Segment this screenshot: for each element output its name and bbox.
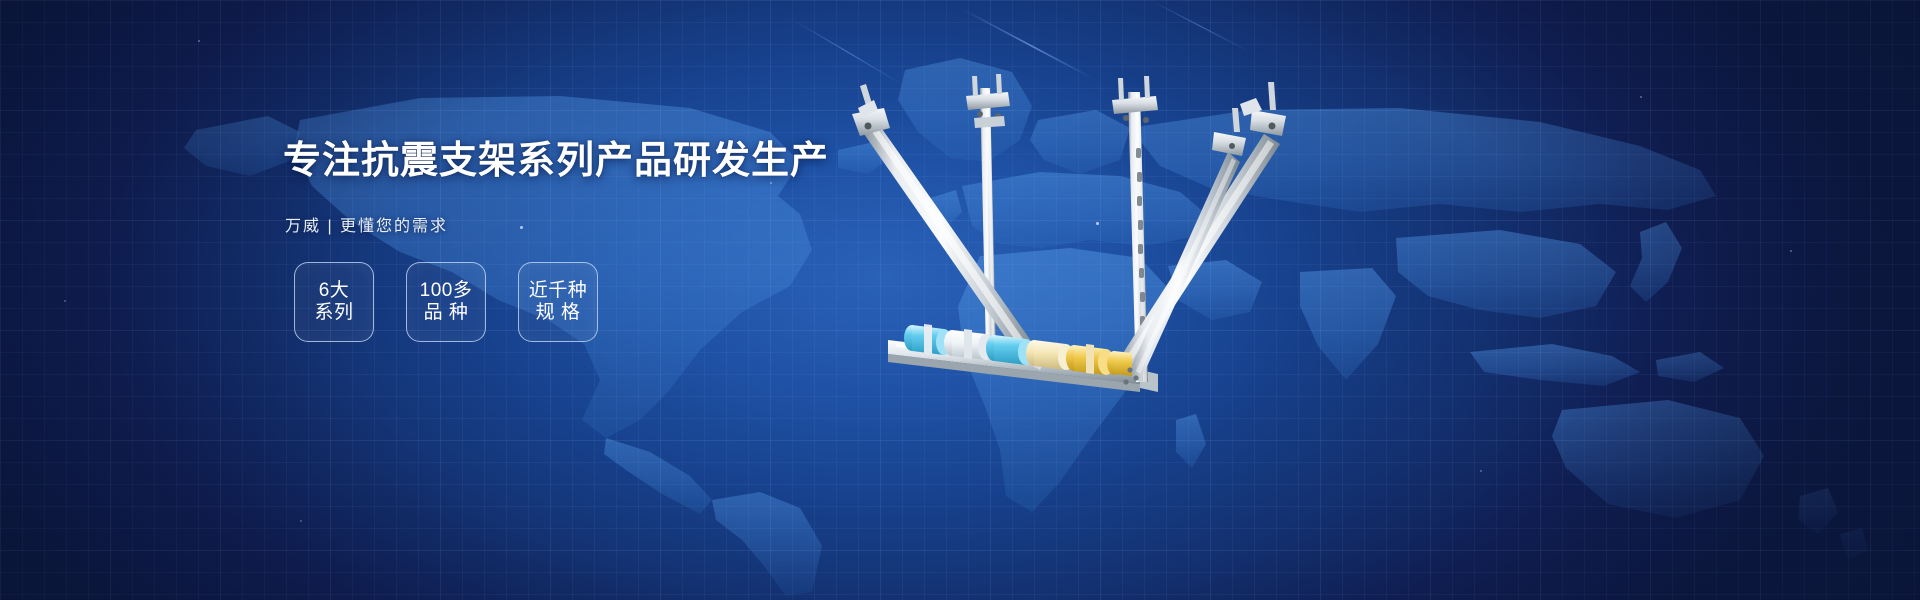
diagonal-brace-left — [852, 84, 1048, 370]
badge-list: 6大 系列 100多 品 种 近千种 规 格 — [294, 262, 598, 342]
badge-line1: 近千种 — [529, 280, 588, 302]
hero-banner: 专注抗震支架系列产品研发生产 万威 | 更懂您的需求 6大 系列 100多 品 … — [0, 0, 1920, 600]
headline: 专注抗震支架系列产品研发生产 — [283, 142, 903, 180]
subline: 万威 | 更懂您的需求 — [285, 212, 903, 236]
diagonal-brace-right-outer — [1128, 108, 1246, 382]
badge-line1: 6大 — [319, 280, 350, 302]
badge-line2: 系列 — [314, 302, 353, 324]
badge-line2: 品 种 — [424, 302, 469, 324]
badge-line1: 100多 — [420, 280, 473, 302]
badge-specifications[interactable]: 近千种 规 格 — [518, 262, 598, 342]
badge-varieties[interactable]: 100多 品 种 — [406, 262, 486, 342]
product-image-seismic-bracing — [840, 52, 1310, 402]
copy-block: 专注抗震支架系列产品研发生产 万威 | 更懂您的需求 — [283, 142, 903, 236]
badge-series[interactable]: 6大 系列 — [294, 262, 374, 342]
badge-line2: 规 格 — [536, 302, 581, 324]
